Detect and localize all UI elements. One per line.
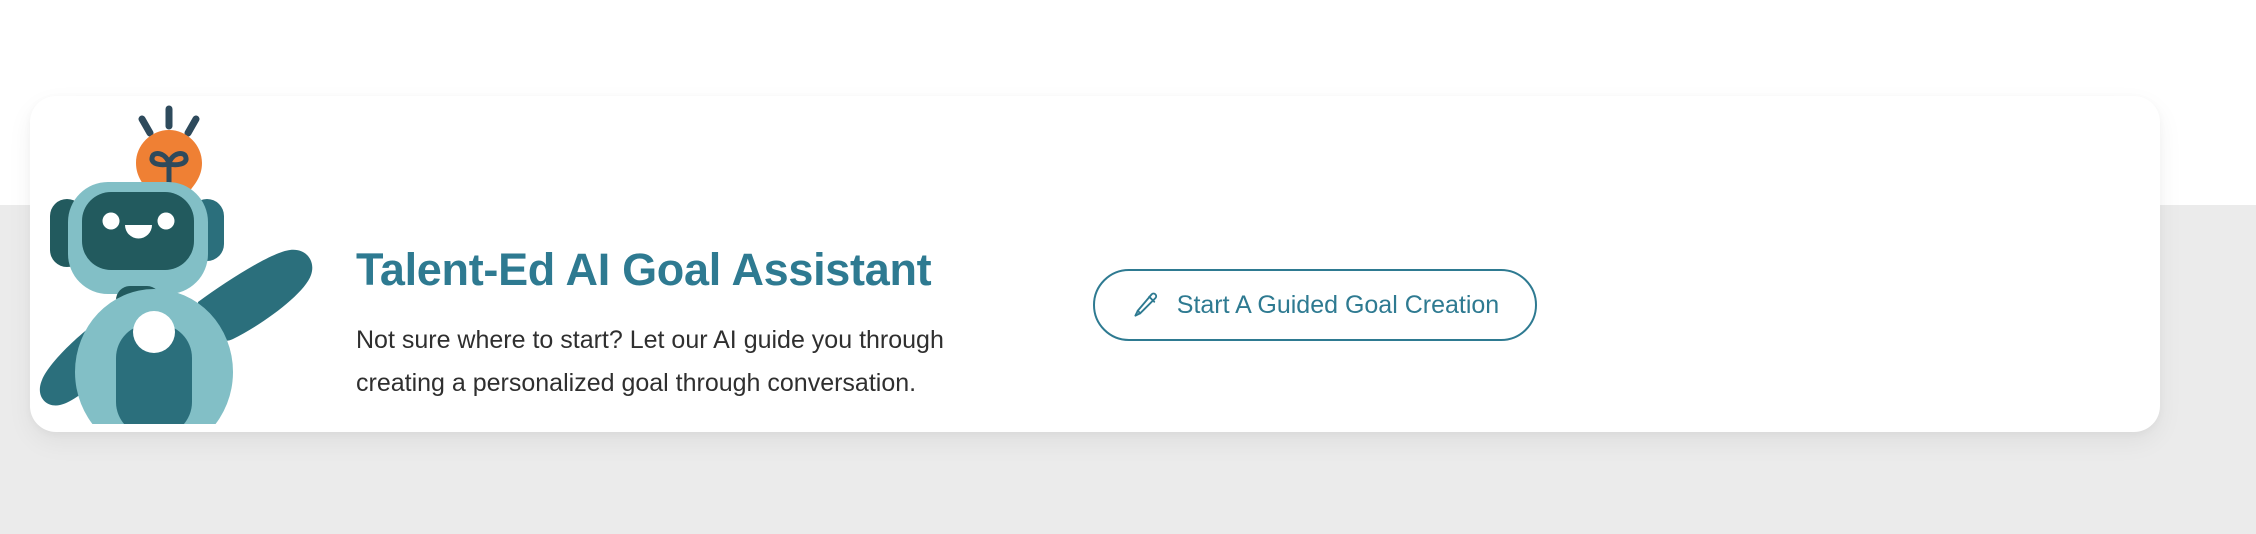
ai-robot-mascot: [38, 104, 328, 409]
lightbulb-rays-icon: [142, 109, 196, 133]
start-guided-goal-creation-label: Start A Guided Goal Creation: [1177, 291, 1499, 320]
page-title: Talent-Ed AI Goal Assistant: [356, 246, 1076, 293]
robot-eye-right: [158, 213, 175, 230]
pencil-icon: [1131, 290, 1161, 320]
assistant-text-block: Talent-Ed AI Goal Assistant Not sure whe…: [356, 246, 1076, 405]
robot-eye-left: [103, 213, 120, 230]
assistant-description: Not sure where to start? Let our AI guid…: [356, 319, 1036, 405]
start-guided-goal-creation-button[interactable]: Start A Guided Goal Creation: [1093, 269, 1537, 341]
robot-chest-light: [133, 311, 175, 353]
ai-goal-assistant-card: Talent-Ed AI Goal Assistant Not sure whe…: [30, 96, 2160, 432]
